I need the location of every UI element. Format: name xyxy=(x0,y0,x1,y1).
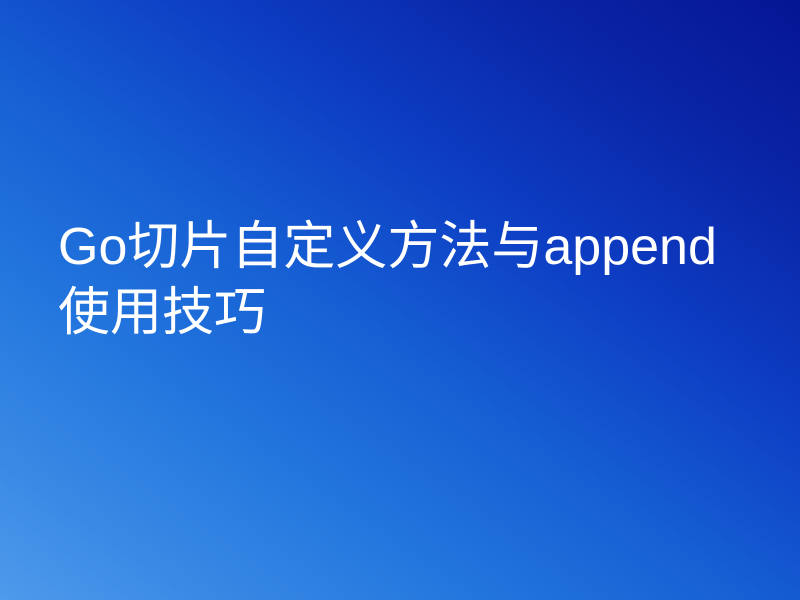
page-title: Go切片自定义方法与append使用技巧 xyxy=(58,214,734,346)
slide-canvas: Go切片自定义方法与append使用技巧 xyxy=(0,0,800,600)
title-block: Go切片自定义方法与append使用技巧 xyxy=(58,214,734,346)
